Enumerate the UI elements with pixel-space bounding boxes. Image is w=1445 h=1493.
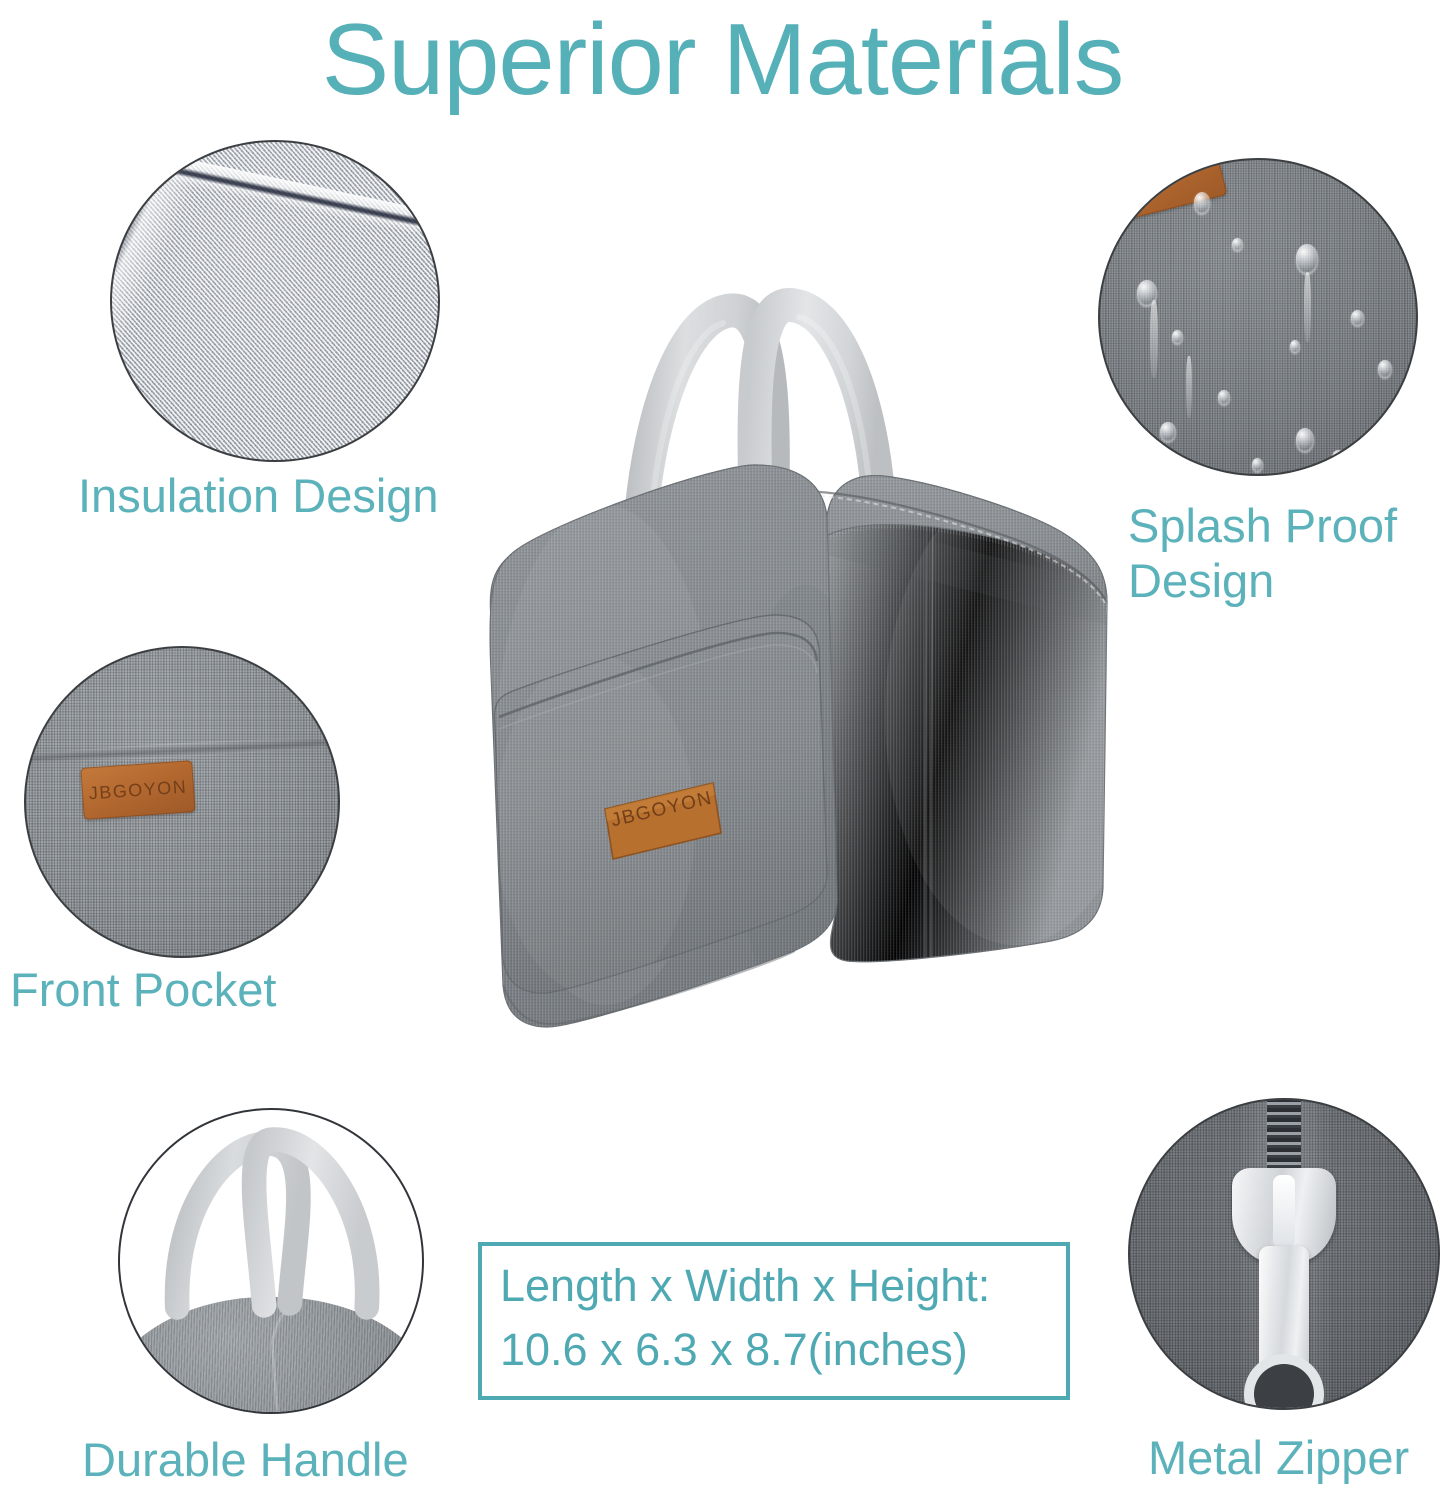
- water-drop: [1296, 428, 1314, 452]
- brand-patch-text: JBGOYON: [88, 776, 188, 804]
- zipper-pull: [1225, 1168, 1343, 1365]
- handle-loops-svg: [120, 1110, 422, 1412]
- zipper-icon: [1128, 1098, 1440, 1410]
- water-drop: [1378, 360, 1392, 378]
- water-drop: [1332, 450, 1345, 466]
- water-drop: [1252, 458, 1263, 472]
- handle-icon: [118, 1108, 424, 1414]
- pocket-icon: JBGOYON: [24, 646, 340, 958]
- foil-lining-icon: [110, 140, 440, 462]
- water-streak: [1186, 356, 1192, 418]
- infographic-canvas: Superior Materials Insulation Design YON…: [0, 0, 1445, 1493]
- brand-patch: JBGOYON: [80, 760, 195, 820]
- feature-label-splash-proof: Splash Proof Design: [1128, 498, 1445, 609]
- water-drop: [1218, 390, 1230, 405]
- water-streak: [1304, 272, 1311, 342]
- dimensions-line-labels: Length x Width x Height:: [500, 1254, 1048, 1318]
- page-title: Superior Materials: [0, 6, 1445, 115]
- water-drop: [1194, 192, 1210, 214]
- feature-label-front-pocket: Front Pocket: [10, 962, 340, 1017]
- water-drop: [1290, 340, 1300, 353]
- brand-patch-partial: YON: [1098, 158, 1227, 228]
- feature-label-durable-handle: Durable Handle: [82, 1432, 482, 1487]
- feature-label-metal-zipper: Metal Zipper: [1148, 1430, 1445, 1485]
- water-drop: [1351, 310, 1364, 326]
- brand-patch-main-text: JBGOYON: [609, 788, 715, 833]
- brand-patch-partial-text: YON: [1130, 166, 1177, 197]
- feature-label-insulation: Insulation Design: [78, 468, 508, 523]
- water-drop: [1232, 238, 1243, 251]
- water-drop: [1172, 330, 1183, 344]
- lunch-bag-svg: [455, 285, 1165, 1075]
- dimensions-line-values: 10.6 x 6.3 x 8.7(inches): [500, 1318, 1048, 1382]
- lining-zipper-seam: [110, 140, 440, 245]
- water-drop: [1296, 244, 1318, 274]
- product-image-lunch-bag: JBGOYON: [455, 285, 1165, 1075]
- dimensions-box: Length x Width x Height: 10.6 x 6.3 x 8.…: [478, 1242, 1070, 1400]
